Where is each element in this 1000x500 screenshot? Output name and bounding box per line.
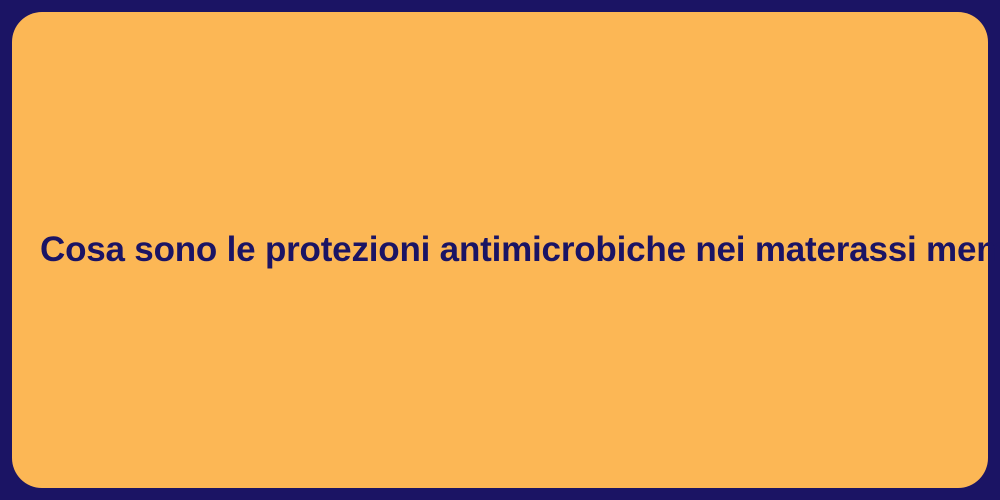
- faq-question-title: Cosa sono le protezioni antimicrobiche n…: [40, 229, 1000, 270]
- faq-card-panel: Cosa sono le protezioni antimicrobiche n…: [12, 12, 988, 488]
- faq-card: Cosa sono le protezioni antimicrobiche n…: [0, 0, 1000, 500]
